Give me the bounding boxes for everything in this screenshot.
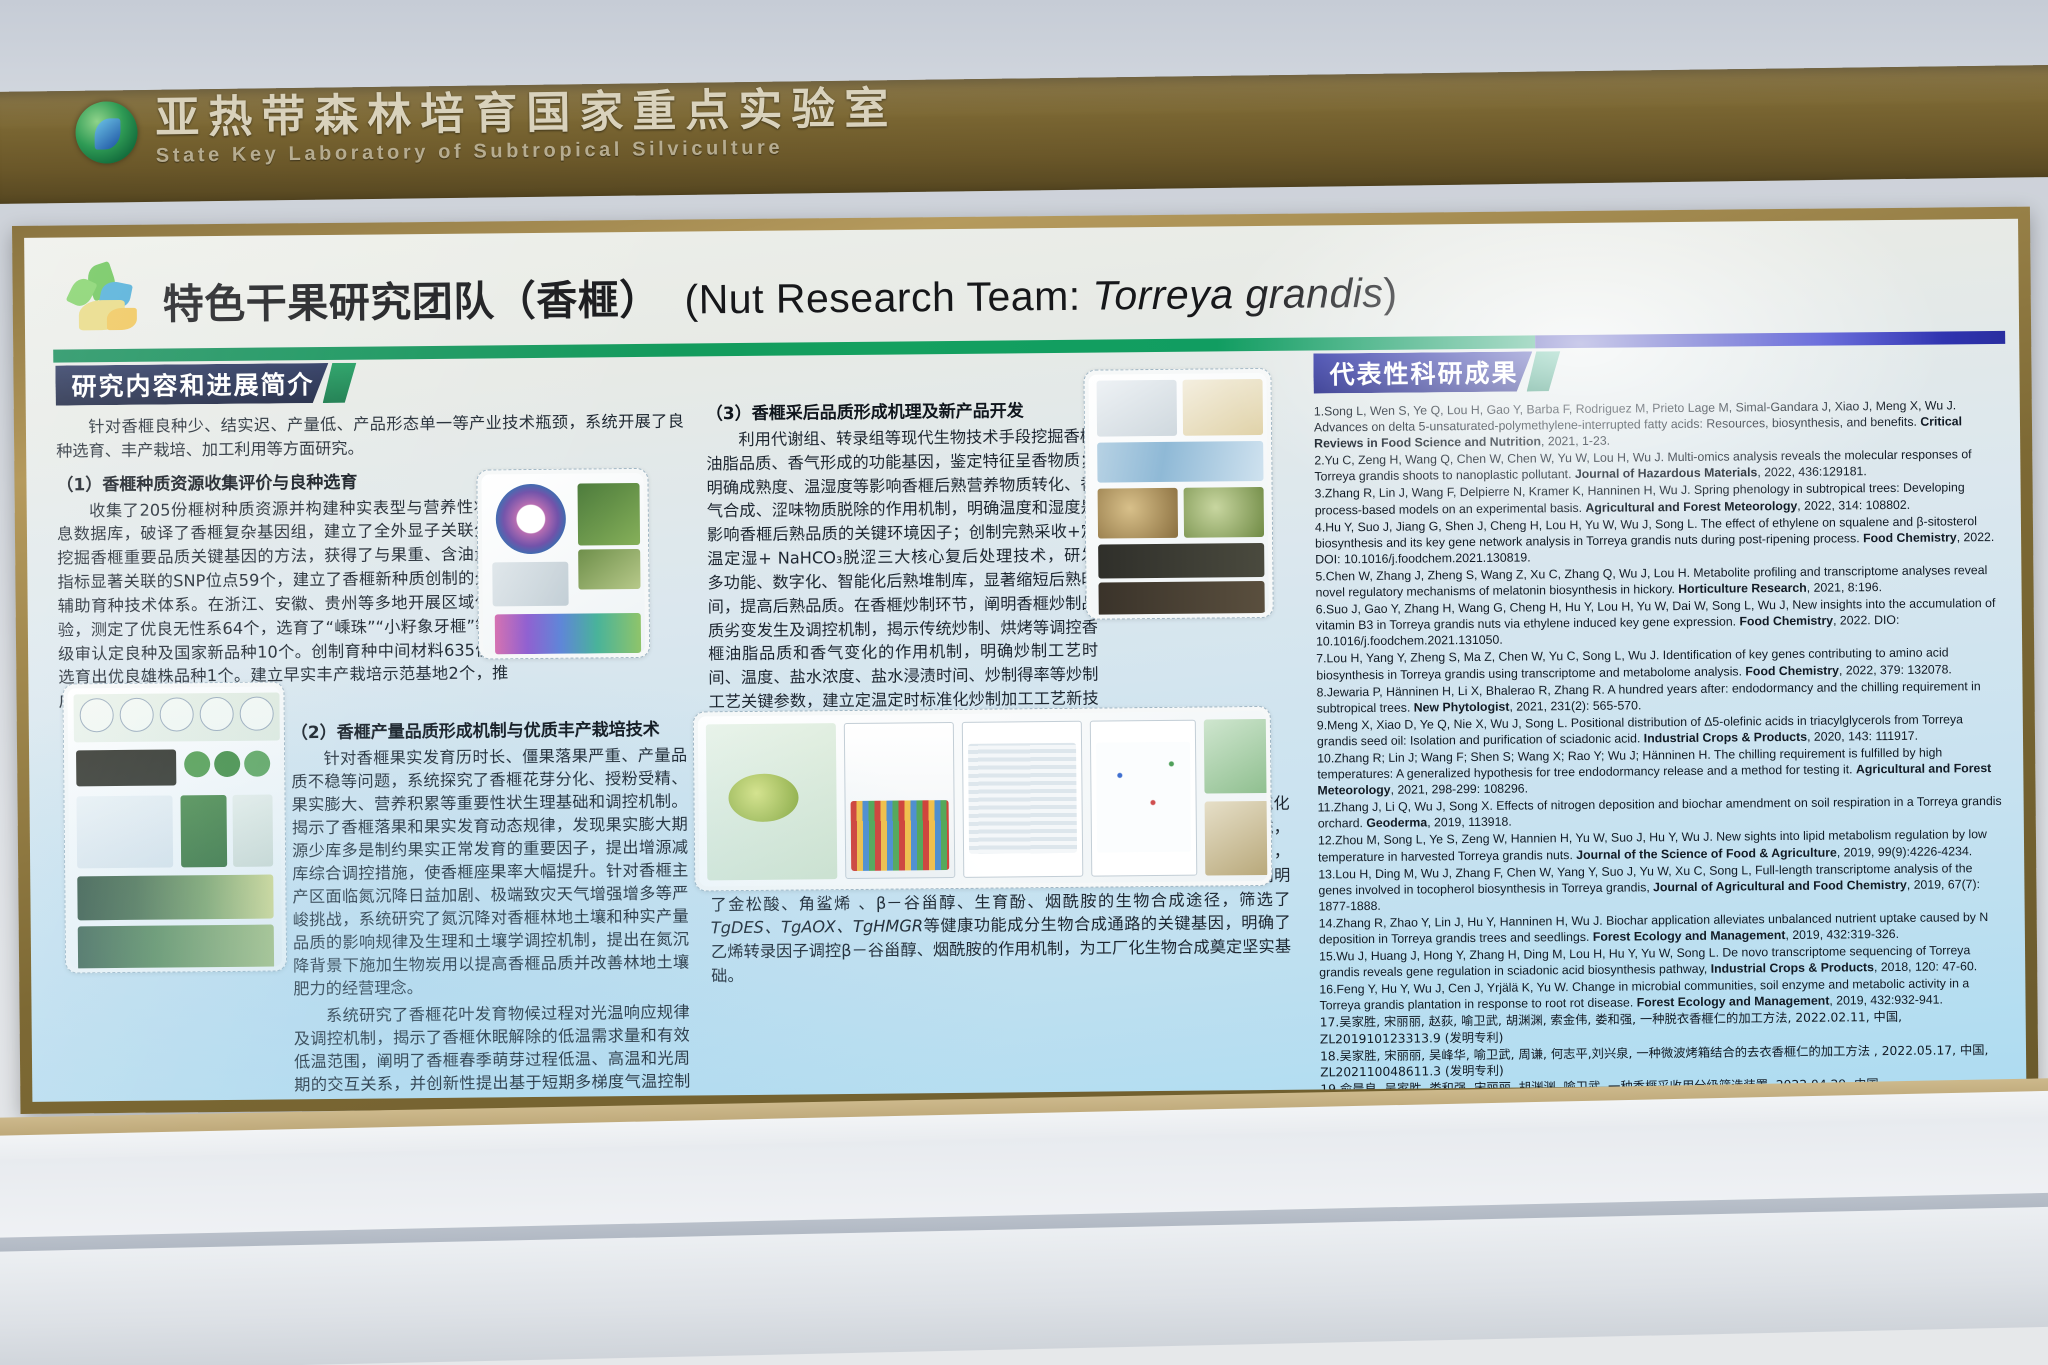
- reference-journal: Forest Ecology and Management: [1637, 994, 1830, 1010]
- lab-emblem-icon: [75, 101, 138, 164]
- lab-name-chinese: 亚热带森林培育国家重点实验室: [155, 86, 898, 142]
- reference-number: 17.: [1320, 1016, 1340, 1030]
- reference-item: 8.Jewaria P, Hänninen H, Li X, Bhalerao …: [1316, 678, 2000, 717]
- column-left: 研究内容和进展简介 针对香榧良种少、结实迟、产量低、产品形态单一等产业技术瓶颈，…: [55, 359, 702, 1095]
- reference-citation: , 2021, 231(2): 565-570.: [1509, 698, 1641, 713]
- reference-citation: , 2022, 314: 108802.: [1797, 497, 1910, 512]
- poster-title-en: (Nut Research Team:: [684, 273, 1092, 323]
- reference-text: 吴家胜, 宋丽丽, 吴峰华, 喻卫武, 周谦, 何志平,刘兴泉, 一种微波烤箱结…: [1320, 1043, 1988, 1080]
- reference-item: 15.Wu J, Huang J, Hong Y, Zhang H, Ding …: [1319, 942, 2003, 981]
- reference-citation: , 2022, 436:129181.: [1757, 465, 1867, 480]
- reference-item: 4.Hu Y, Suo J, Jiang G, Shen J, Cheng H,…: [1315, 513, 1999, 568]
- reference-journal: Food Chemistry: [1863, 530, 1957, 545]
- rule-blue-segment: [1535, 331, 2005, 349]
- reference-text: 吴家胜, 宋丽丽, 赵荻, 喻卫武, 胡渊渊, 索金伟, 娄和强, 一种脱衣香榧…: [1320, 1010, 1902, 1046]
- reference-number: 6.: [1316, 603, 1326, 617]
- reference-number: 11.: [1318, 801, 1334, 815]
- reference-number: 13.: [1318, 867, 1335, 881]
- reference-journal: Journal of Agricultural and Food Chemist…: [1653, 878, 1907, 894]
- reference-item: 7.Lou H, Yang Y, Zheng S, Ma Z, Chen W, …: [1316, 644, 2000, 683]
- reference-journal: New Phytologist: [1414, 699, 1510, 714]
- reference-citation: , 2021, 8:196.: [1807, 580, 1882, 595]
- poster-board: 特色干果研究团队（香榧） (Nut Research Team: Torreya…: [24, 219, 2026, 1102]
- reference-citation: , 2021, 1-23.: [1541, 434, 1610, 449]
- right-header-label: 代表性科研成果: [1313, 351, 1532, 393]
- poster-title: 特色干果研究团队（香榧） (Nut Research Team: Torreya…: [162, 259, 1397, 331]
- reference-text: Song L, Wen S, Ye Q, Lou H, Gao Y, Barba…: [1314, 398, 1956, 434]
- reference-citation: , 2021, 298-299: 108296.: [1391, 782, 1529, 797]
- mid-section4-genes: TgDES、TgAOX、TgHMGR: [711, 917, 924, 938]
- reference-citation: , 2018, 120: 47-60.: [1874, 959, 1977, 974]
- reference-number: 9.: [1317, 718, 1327, 732]
- poster-frame: 特色干果研究团队（香榧） (Nut Research Team: Torreya…: [12, 207, 2038, 1114]
- reference-citation: , 2019, 99(9):4226-4234.: [1837, 844, 1973, 859]
- reference-item: 5.Chen W, Zhang J, Zheng S, Wang Z, Xu C…: [1315, 562, 1999, 601]
- reference-text: Chen W, Zhang J, Zheng S, Wang Z, Xu C, …: [1316, 563, 1988, 600]
- reference-item: 1.Song L, Wen S, Ye Q, Lou H, Gao Y, Bar…: [1314, 397, 1998, 452]
- reference-journal: Industrial Crops & Products: [1711, 960, 1874, 976]
- postharvest-processing-figure: [1083, 368, 1273, 620]
- reference-item: 12.Zhou M, Song L, Ye S, Zeng W, Hannien…: [1318, 826, 2002, 865]
- reference-number: 16.: [1319, 983, 1336, 997]
- reference-citation: , 2022, 379: 132078.: [1839, 662, 1952, 677]
- bioactive-compound-figure: [693, 706, 1273, 892]
- column-middle: （3）香榧采后品质形成机理及新产品开发 利用代谢组、转录组等现代生物技术手段挖掘…: [695, 354, 1302, 1090]
- reference-number: 7.: [1316, 652, 1326, 666]
- reference-text: Zhang R; Lin J; Wang F; Shen S; Wang X; …: [1317, 745, 1942, 781]
- left-header-label: 研究内容和进展简介: [55, 363, 328, 406]
- reference-item: 14.Zhang R, Zhao Y, Lin J, Hu Y, Hannine…: [1319, 909, 2003, 948]
- reference-list: 1.Song L, Wen S, Ye Q, Lou H, Gao Y, Bar…: [1314, 397, 2005, 1102]
- reference-item: 2.Yu C, Zeng H, Wang Q, Chen W, Chen W, …: [1314, 446, 1998, 485]
- poster-title-row: 特色干果研究团队（香榧） (Nut Research Team: Torreya…: [66, 237, 1995, 348]
- reference-citation: , 2020, 143: 111917.: [1807, 729, 1918, 744]
- poster-title-species: Torreya grandis: [1092, 270, 1383, 319]
- leaf-emblem-icon: [66, 264, 149, 339]
- reference-number: 3.: [1315, 487, 1325, 501]
- reference-journal: Horticulture Research: [1678, 581, 1807, 596]
- reference-item: 3.Zhang R, Lin J, Wang F, Delpierre N, K…: [1315, 479, 1999, 518]
- reference-item: 9.Meng X, Xiao D, Ye Q, Nie X, Wu J, Son…: [1317, 711, 2001, 750]
- reference-journal: Forest Ecology and Management: [1593, 928, 1786, 944]
- reference-journal: Journal of the Science of Food & Agricul…: [1576, 845, 1837, 862]
- left-section-header: 研究内容和进展简介: [55, 360, 683, 406]
- reference-journal: Geoderma: [1366, 816, 1427, 831]
- poster-title-zh: 特色干果研究团队（香榧）: [163, 276, 661, 329]
- reference-number: 8.: [1316, 685, 1326, 699]
- reference-citation: , 2019, 113918.: [1427, 815, 1512, 830]
- reference-journal: Food Chemistry: [1739, 614, 1833, 629]
- reference-item: 6.Suo J, Gao Y, Zhang H, Wang G, Cheng H…: [1316, 595, 2000, 650]
- reference-item: 11.Zhang J, Li Q, Wu J, Song X. Effects …: [1318, 793, 2002, 832]
- right-section-header: 代表性科研成果: [1313, 347, 1997, 394]
- reference-item: 10.Zhang R; Lin J; Wang F; Shen S; Wang …: [1317, 744, 2001, 799]
- reference-item: 16.Feng Y, Hu Y, Wu J, Cen J, Yrjälä K, …: [1319, 975, 2003, 1014]
- photo-scene: 亚热带森林培育国家重点实验室 State Key Laboratory of S…: [0, 0, 2048, 1365]
- reference-journal: Industrial Crops & Products: [1644, 730, 1807, 746]
- cultivation-panel-figure: [62, 681, 287, 973]
- reference-number: 1.: [1314, 404, 1324, 418]
- reference-item: 13.Lou H, Ding M, Wu J, Zhang F, Chen W,…: [1318, 860, 2002, 915]
- reference-citation: , 2019, 432:932-941.: [1829, 993, 1943, 1008]
- reference-journal: Agricultural and Forest Meteorology: [1585, 498, 1797, 514]
- left-section2-heading: （2）香榧产量品质形成机制与优质丰产栽培技术: [291, 714, 687, 743]
- reference-journal: Food Chemistry: [1745, 663, 1839, 678]
- left-header-tail: [322, 363, 356, 403]
- reference-item: 18.吴家胜, 宋丽丽, 吴峰华, 喻卫武, 周谦, 何志平,刘兴泉, 一种微波…: [1320, 1042, 2004, 1081]
- left-section2-body-2: 系统研究了香榧花叶发育物候过程对光温响应规律及调控机制，揭示了香榧休眠解除的低温…: [293, 1000, 691, 1101]
- reference-number: 14.: [1319, 916, 1336, 930]
- reference-journal: Journal of Hazardous Materials: [1575, 466, 1758, 482]
- right-header-tail: [1526, 351, 1560, 391]
- reference-number: 12.: [1318, 834, 1335, 848]
- reference-citation: , 2019, 432:319-326.: [1785, 927, 1899, 942]
- left-intro-paragraph: 针对香榧良种少、结实迟、产量低、产品形态单一等产业技术瓶颈，系统开展了良种选育、…: [56, 410, 684, 464]
- reference-item: 17.吴家胜, 宋丽丽, 赵荻, 喻卫武, 胡渊渊, 索金伟, 娄和强, 一种脱…: [1320, 1008, 2004, 1047]
- left-section2-body-1: 针对香榧果实发育历时长、僵果落果严重、产量品质不稳等问题，系统探究了香榧花芽分化…: [291, 743, 689, 1000]
- poster-title-en-close: ): [1383, 270, 1398, 316]
- reference-number: 18.: [1320, 1049, 1340, 1063]
- genome-analysis-figure: [476, 468, 650, 660]
- reference-number: 5.: [1315, 569, 1325, 583]
- reference-number: 10.: [1317, 751, 1334, 765]
- reference-number: 4.: [1315, 520, 1325, 534]
- reference-number: 2.: [1314, 454, 1324, 468]
- column-right: 代表性科研成果 1.Song L, Wen S, Ye Q, Lou H, Ga…: [1295, 347, 2004, 1084]
- reference-number: 15.: [1319, 949, 1336, 963]
- poster-columns: 研究内容和进展简介 针对香榧良种少、结实迟、产量低、产品形态单一等产业技术瓶颈，…: [25, 347, 2026, 1096]
